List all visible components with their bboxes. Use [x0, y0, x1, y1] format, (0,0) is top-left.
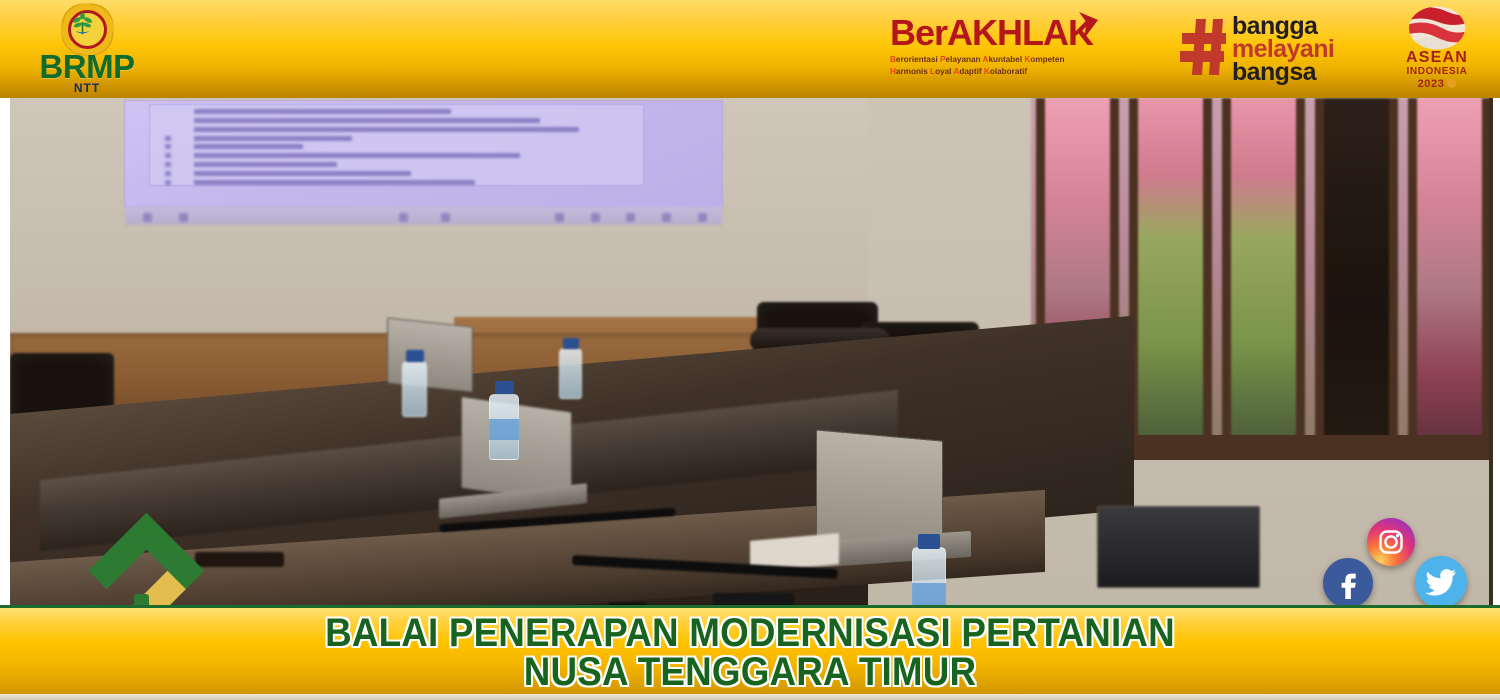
projector-screen: [124, 100, 723, 207]
water-bottle-2-cap: [495, 381, 514, 394]
asean-year-text: 2023: [1418, 78, 1445, 90]
asean-globe-icon: [1408, 6, 1466, 50]
water-bottle-2-label: [489, 419, 519, 439]
banner-page: BRMP NTT BerAKHLAK Berorientasi Pelayana…: [0, 0, 1500, 700]
asean-year-dot: [1447, 79, 1456, 88]
brmp-region: NTT: [22, 81, 152, 95]
laptop-4: [1097, 506, 1260, 588]
institution-title-line-1: BALAI PENERAPAN MODERNISASI PERTANIAN: [325, 611, 1175, 655]
swoosh-icon: [1076, 10, 1102, 42]
brmp-logo: BRMP NTT: [22, 3, 152, 97]
projected-taskbar: [125, 206, 722, 225]
berakhlak-tagline-line1: Berorientasi Pelayanan Akuntabel Kompete…: [890, 54, 1100, 66]
header-bar: BRMP NTT BerAKHLAK Berorientasi Pelayana…: [0, 0, 1500, 98]
agro-modern-logo: AGRO MODERN: [72, 512, 222, 608]
water-bottle-1-cap: [406, 350, 424, 362]
asean-name: ASEAN: [1394, 49, 1480, 67]
berakhlak-tagline: Berorientasi Pelayanan Akuntabel Kompete…: [890, 54, 1100, 77]
berakhlak-tagline-line2: Harmonis Loyal Adaptif Kolaboratif: [890, 66, 1100, 78]
bangga-line-3: bangsa: [1232, 61, 1334, 84]
asean-year: 2023: [1394, 78, 1480, 90]
asean-country: INDONESIA: [1394, 66, 1480, 77]
bottom-banner: BALAI PENERAPAN MODERNISASI PERTANIAN NU…: [0, 605, 1500, 700]
laptop-2: [387, 318, 473, 393]
facebook-icon[interactable]: [1323, 558, 1373, 608]
bangga-text-block: bangga melayani bangsa: [1232, 15, 1334, 84]
agriculture-seal-icon: [63, 5, 112, 54]
water-bottle-1: [402, 361, 427, 417]
projected-document: [149, 104, 644, 186]
agro-modern-mark-icon: [84, 512, 210, 608]
bangga-melayani-bangsa-logo: bangga melayani bangsa: [1180, 10, 1360, 90]
hashtag-icon: [1180, 17, 1226, 77]
twitter-icon[interactable]: [1415, 556, 1467, 608]
social-media-icons: TikTok: [1315, 518, 1500, 608]
institution-title: BALAI PENERAPAN MODERNISASI PERTANIAN NU…: [60, 614, 1440, 692]
water-bottle-3: [559, 348, 583, 399]
photo-area: AGRO MODERN: [0, 98, 1500, 608]
berakhlak-wordmark: BerAKHLAK: [890, 14, 1100, 52]
berakhlak-logo: BerAKHLAK Berorientasi Pelayanan Akuntab…: [890, 14, 1100, 88]
asean-logo: ASEAN INDONESIA 2023: [1394, 6, 1480, 94]
meeting-photo: [10, 98, 1493, 608]
instagram-icon[interactable]: [1367, 518, 1415, 566]
water-bottle-3-cap: [563, 338, 579, 349]
banner-bottom-rule: [0, 694, 1500, 700]
plant-icon: [72, 12, 93, 36]
water-bottle-4-cap: [918, 534, 940, 549]
brmp-acronym: BRMP: [22, 50, 152, 84]
institution-title-line-2: NUSA TENGGARA TIMUR: [60, 653, 1440, 692]
